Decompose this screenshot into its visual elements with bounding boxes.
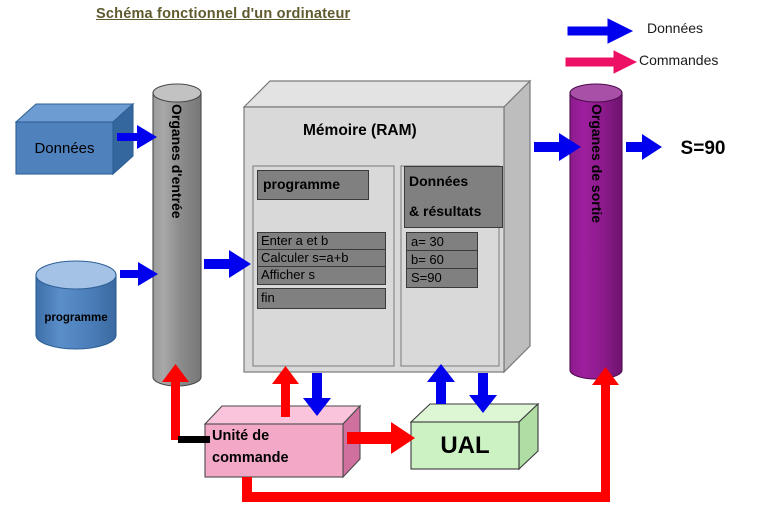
legend-arrow-command [566,51,636,73]
control-unit-label-line2: commande [212,450,289,466]
memory-program-header: programme [263,170,373,198]
memory-program-line: Afficher s [261,266,388,283]
diagram-graphics [0,0,779,512]
control-unit-label-line1: Unité de [212,428,269,444]
arrow-program-to-input [120,262,158,286]
input-devices-label: Organes d'entrée [169,104,185,219]
legend-label-data: Données [647,20,703,36]
memory-program-line: Enter a et b [261,232,388,249]
memory-title: Mémoire (RAM) [303,122,417,140]
legend-arrow-data [568,19,632,43]
legend-label-command: Commandes [639,52,718,68]
program-cylinder [36,261,116,349]
memory-data-line: b= 60 [411,250,481,268]
cu-left-connector [178,436,210,443]
memory-program-line: fin [261,288,388,307]
memory-data-line: a= 30 [411,232,481,250]
memory-program-line: Calculer s=a+b [261,249,388,266]
arrow-output-to-result [626,134,662,160]
diagram-canvas: Schéma fonctionnel d'un ordinateur [0,0,779,512]
memory-data-line: S=90 [411,268,481,286]
memory-data-header-line2: & résultats [409,196,504,226]
alu-box [411,404,538,469]
memory-data-header-line1: Données [409,166,504,196]
output-devices-label: Organes de sortie [589,104,605,223]
input-data-box [16,104,133,174]
